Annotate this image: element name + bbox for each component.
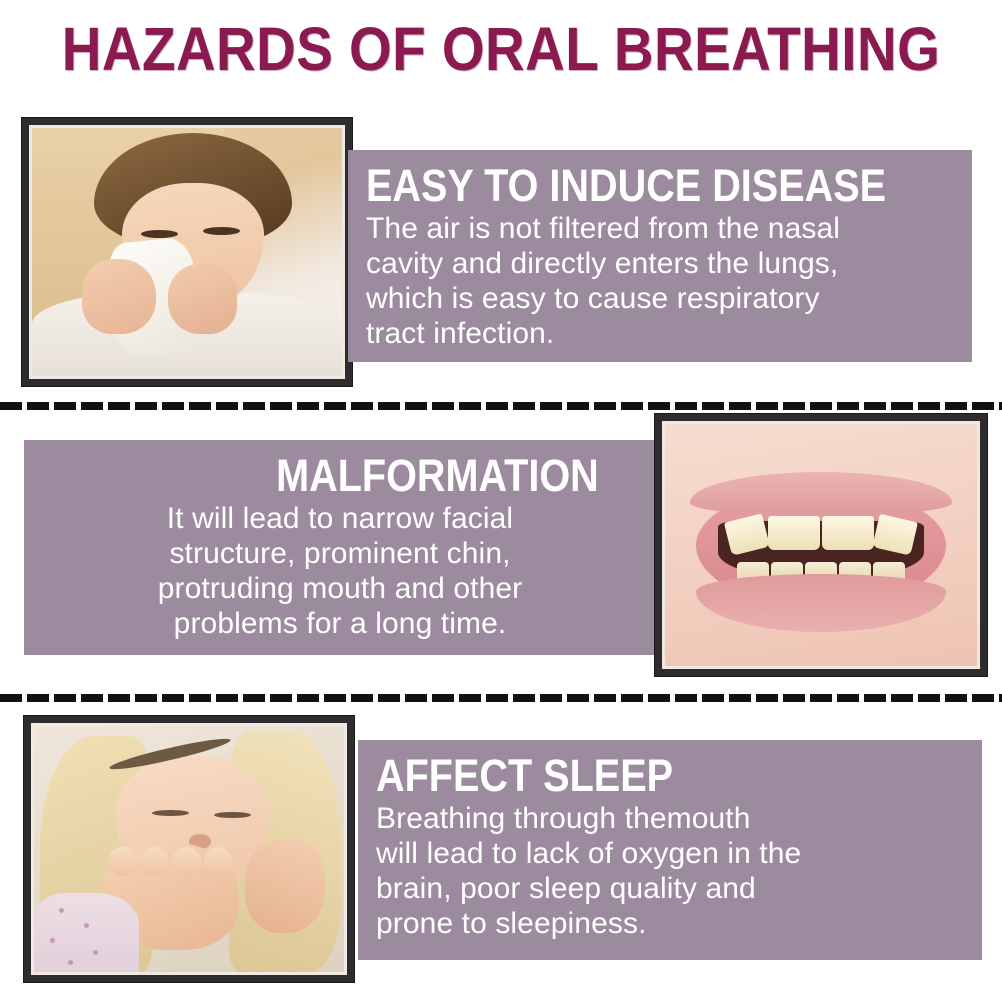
photo-child-blowing-nose <box>32 128 342 376</box>
section-2-body-line: structure, prominent chin, <box>42 536 638 571</box>
section-3-panel: AFFECT SLEEP Breathing through themouth … <box>358 740 982 960</box>
section-1-body: The air is not filtered from the nasal c… <box>366 211 956 351</box>
section-3-heading: AFFECT SLEEP <box>376 752 895 799</box>
section-3-body-line: brain, poor sleep quality and <box>376 871 966 906</box>
section-3-body-line: will lead to lack of oxygen in the <box>376 836 966 871</box>
section-1-body-line: The air is not filtered from the nasal <box>366 211 956 246</box>
section-3-body: Breathing through themouth will lead to … <box>376 801 966 941</box>
section-2-panel: MALFORMATION It will lead to narrow faci… <box>24 440 656 655</box>
section-1-body-line: tract infection. <box>366 316 956 351</box>
section-2-body-line: It will lead to narrow facial <box>42 501 638 536</box>
infographic-poster: HAZARDS OF ORAL BREATHING EASY TO INDUCE… <box>0 0 1002 1002</box>
photo-girl-covering-mouth <box>34 726 344 972</box>
page-title: HAZARDS OF ORAL BREATHING <box>50 16 952 82</box>
section-2-body-line: problems for a long time. <box>42 606 638 641</box>
photo-crooked-teeth <box>665 424 977 666</box>
section-3-body-line: Breathing through themouth <box>376 801 966 836</box>
section-divider-1 <box>0 402 1002 410</box>
section-3-photo <box>24 716 354 982</box>
section-1-photo <box>22 118 352 386</box>
section-2-heading: MALFORMATION <box>78 452 602 499</box>
section-1-heading: EASY TO INDUCE DISEASE <box>366 162 885 209</box>
section-2-photo <box>655 414 987 676</box>
section-1-panel: EASY TO INDUCE DISEASE The air is not fi… <box>348 150 972 362</box>
section-2-body-line: protruding mouth and other <box>42 571 638 606</box>
section-3-body-line: prone to sleepiness. <box>376 906 966 941</box>
section-1-body-line: cavity and directly enters the lungs, <box>366 246 956 281</box>
section-divider-2 <box>0 694 1002 702</box>
section-2-body: It will lead to narrow facial structure,… <box>42 501 638 641</box>
section-1-body-line: which is easy to cause respiratory <box>366 281 956 316</box>
